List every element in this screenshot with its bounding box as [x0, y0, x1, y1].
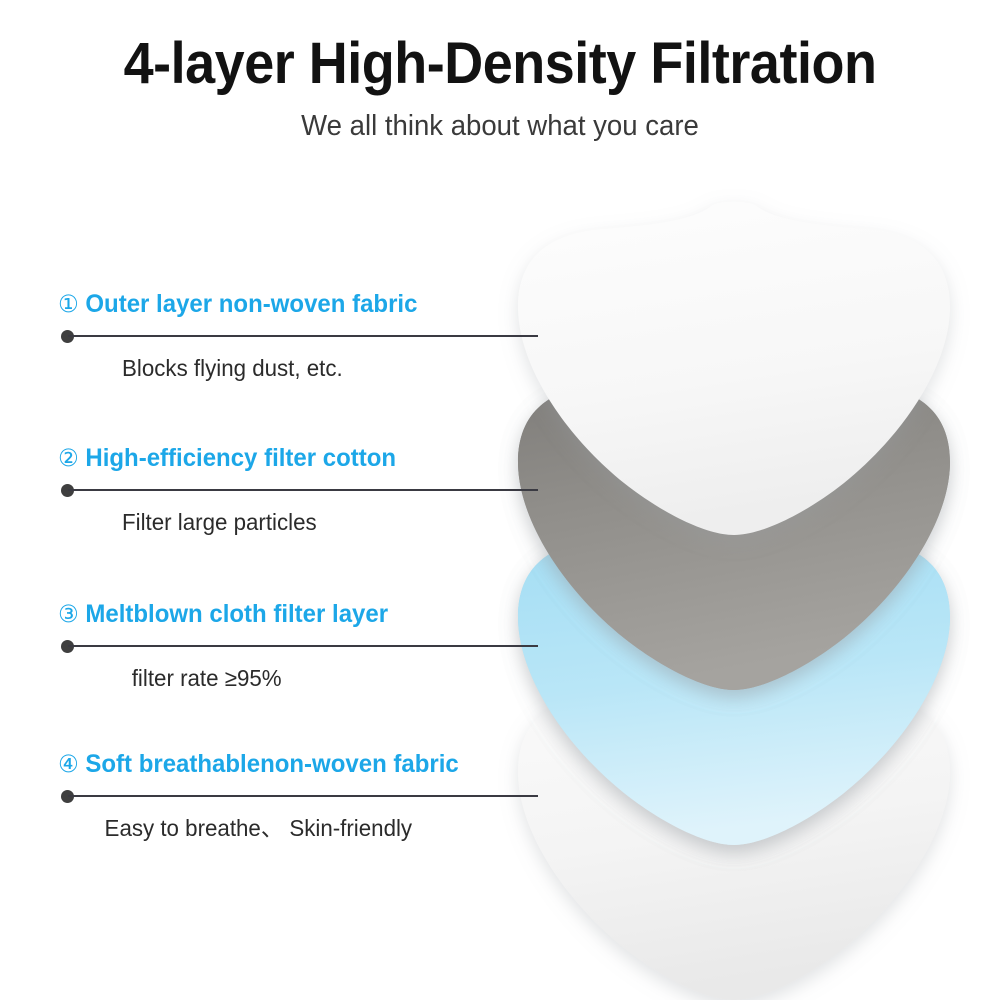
callout-list: ① Outer layer non-woven fabric Blocks fl… [0, 0, 560, 1000]
callout-heading-label-4: Soft breathablenon-woven fabric [85, 750, 458, 779]
callout-heading-3: ③ Meltblown cloth filter layer [58, 600, 538, 629]
connector-line-1 [68, 335, 538, 337]
callout-connector-3 [58, 639, 558, 653]
circled-number-3-icon: ③ [58, 603, 79, 627]
connector-line-2 [68, 489, 538, 491]
connector-line-3 [68, 645, 538, 647]
callout-description-3: filter rate ≥95% [58, 664, 543, 693]
callout-heading-label-3: Meltblown cloth filter layer [85, 600, 388, 629]
callout-connector-1 [58, 329, 558, 343]
callout-heading-1: ① Outer layer non-woven fabric [58, 290, 538, 319]
callout-heading-2: ② High-efficiency filter cotton [58, 444, 538, 473]
mask-layer-outer-non-woven [514, 195, 954, 555]
circled-number-2-icon: ② [58, 447, 79, 471]
outer-layer-shape [518, 202, 950, 535]
callout-connector-4 [58, 789, 558, 803]
circled-number-4-icon: ④ [58, 753, 79, 777]
circled-number-1-icon: ① [58, 293, 79, 317]
callout-description-2: Filter large particles [58, 508, 543, 537]
callout-item-3: ③ Meltblown cloth filter layer filter ra… [58, 600, 558, 693]
infographic-poster: 4-layer High-Density Filtration We all t… [0, 0, 1000, 1000]
callout-item-2: ② High-efficiency filter cotton Filter l… [58, 444, 558, 537]
mask-layer-stack [500, 195, 970, 955]
callout-heading-label-2: High-efficiency filter cotton [85, 444, 396, 473]
callout-item-1: ① Outer layer non-woven fabric Blocks fl… [58, 290, 558, 383]
callout-heading-4: ④ Soft breathablenon-woven fabric [58, 750, 538, 779]
callout-description-4: Easy to breathe、 Skin-friendly [58, 814, 543, 843]
callout-description-1: Blocks flying dust, etc. [58, 354, 543, 383]
connector-line-4 [68, 795, 538, 797]
callout-connector-2 [58, 483, 558, 497]
callout-heading-label-1: Outer layer non-woven fabric [85, 290, 417, 319]
callout-item-4: ④ Soft breathablenon-woven fabric Easy t… [58, 750, 558, 843]
